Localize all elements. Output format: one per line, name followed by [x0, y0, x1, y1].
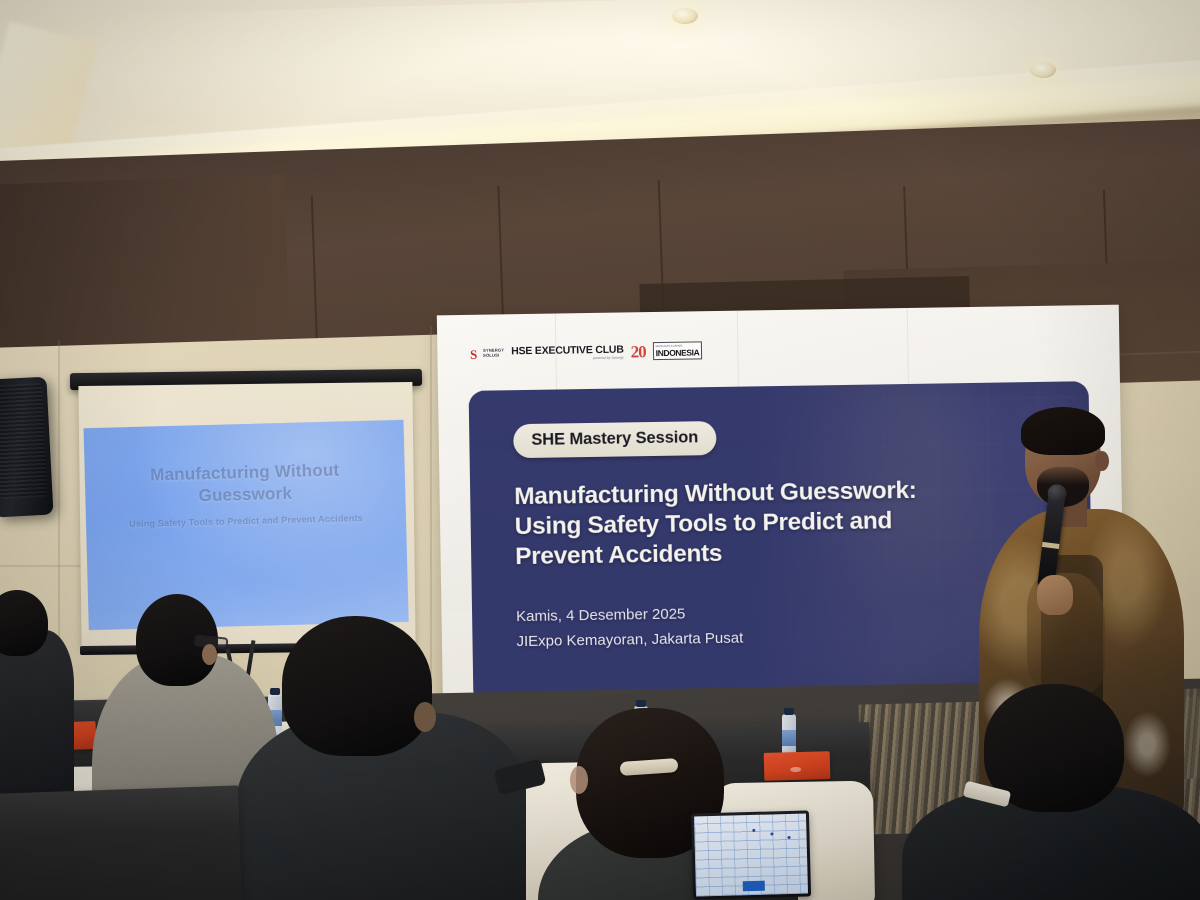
projected-slide-title: Manufacturing Without Guesswork	[85, 458, 406, 510]
cell-selection	[743, 881, 765, 892]
banner-logo-strip: S SYNERGY SOLUSI HSE EXECUTIVE CLUB powe…	[470, 337, 730, 367]
manufacturing-indonesia-logo: MANUFACTURING INDONESIA	[653, 341, 703, 360]
laptop	[691, 810, 811, 899]
bottle-cap	[636, 700, 646, 707]
hse-executive-club-logo: HSE EXECUTIVE CLUB powered by Synergy	[511, 344, 624, 362]
session-badge: SHE Mastery Session	[513, 421, 716, 458]
photo-scene: Manufacturing Without Guesswork Using Sa…	[0, 0, 1200, 900]
laptop-screen	[691, 810, 811, 899]
attendee-dark-jacket-center	[236, 616, 536, 900]
presenter-hand	[1037, 575, 1073, 615]
mi-main-text: INDONESIA	[656, 347, 700, 358]
attendee-head	[0, 590, 48, 656]
anniversary-20-logo: 20	[631, 343, 646, 360]
attendee-ear	[570, 766, 588, 794]
attendee-head	[282, 616, 432, 756]
table-front-left	[0, 785, 242, 900]
wall-seam	[0, 565, 90, 567]
chart-point	[771, 832, 774, 835]
pa-speaker	[0, 377, 54, 518]
attendee-ear	[202, 644, 217, 665]
downlight-icon	[672, 8, 698, 24]
synergy-subname: SOLUSI	[483, 354, 504, 359]
projected-slide-subtitle: Using Safety Tools to Predict and Preven…	[86, 512, 406, 530]
synergy-s-mark: S	[470, 347, 481, 360]
laptop-display	[694, 814, 808, 897]
synergy-solusi-logo: S SYNERGY SOLUSI	[470, 347, 504, 361]
attendee-dark-suit-right	[912, 690, 1200, 900]
downlight-icon	[1030, 62, 1056, 78]
presenter-ear	[1095, 451, 1109, 471]
attendee-silhouette	[0, 630, 74, 810]
session-badge-label: SHE Mastery Session	[531, 428, 698, 450]
attendee-ear	[414, 702, 436, 732]
attendee-edge-left	[0, 590, 74, 800]
slide-title: Manufacturing Without Guesswork: Using S…	[514, 475, 985, 572]
presenter-hair	[1021, 407, 1105, 455]
slide-meta: Kamis, 4 Desember 2025 JIExpo Kemayoran,…	[516, 598, 917, 654]
microphone-band	[1042, 542, 1059, 549]
